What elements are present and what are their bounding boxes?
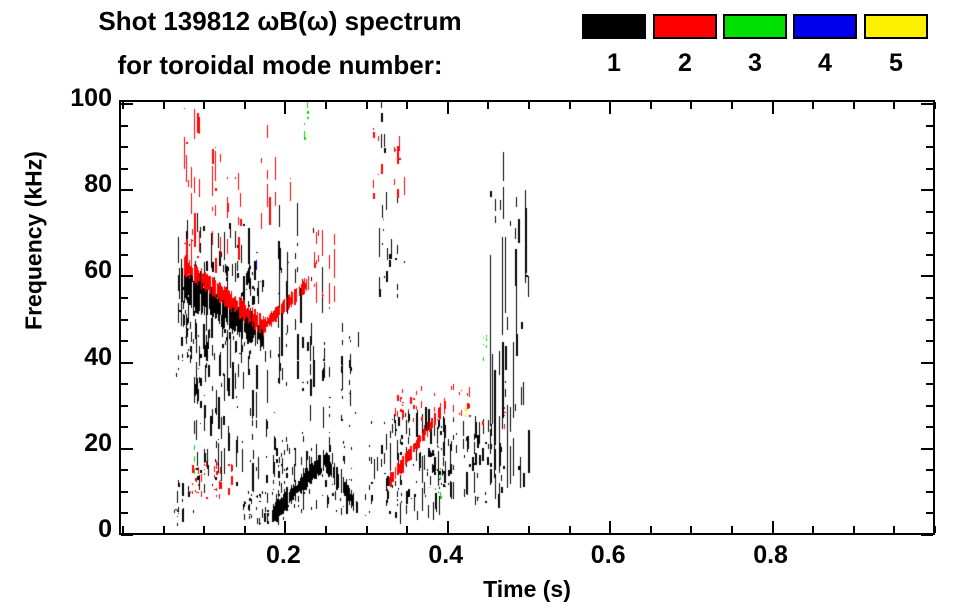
y-tick-minor-left bbox=[121, 405, 128, 407]
x-tick-minor-top bbox=[690, 102, 692, 109]
y-tick-label-80: 80 bbox=[42, 170, 112, 199]
y-tick-label-0: 0 bbox=[42, 515, 112, 544]
y-tick-label-20: 20 bbox=[42, 429, 112, 458]
x-tick-minor-bottom bbox=[569, 526, 571, 533]
y-tick-minor-right bbox=[926, 383, 933, 385]
x-tick-minor-bottom bbox=[244, 526, 246, 533]
legend-label-2: 2 bbox=[653, 49, 717, 78]
x-tick-minor-bottom bbox=[203, 526, 205, 533]
x-tick-major-top-0.6 bbox=[609, 102, 611, 114]
legend-swatch-4 bbox=[793, 14, 857, 39]
x-tick-minor-top bbox=[122, 102, 124, 109]
x-tick-minor-top bbox=[934, 102, 936, 109]
x-tick-minor-top bbox=[406, 102, 408, 109]
y-tick-major-right-0 bbox=[921, 534, 933, 536]
legend-label-3: 3 bbox=[723, 49, 787, 78]
legend-swatch-2 bbox=[653, 14, 717, 39]
x-tick-minor-bottom bbox=[893, 526, 895, 533]
x-tick-minor-bottom bbox=[650, 526, 652, 533]
x-tick-minor-bottom bbox=[853, 526, 855, 533]
legend-item-1[interactable]: 1 bbox=[582, 8, 644, 88]
y-tick-minor-left bbox=[121, 426, 128, 428]
x-tick-label-0.4: 0.4 bbox=[406, 541, 486, 570]
plot-area bbox=[119, 100, 935, 535]
x-tick-labels: 0.20.40.60.8 bbox=[119, 541, 935, 575]
y-tick-minor-right bbox=[926, 319, 933, 321]
y-tick-label-100: 100 bbox=[42, 84, 112, 113]
y-tick-minor-right bbox=[926, 254, 933, 256]
y-tick-label-40: 40 bbox=[42, 343, 112, 372]
y-tick-minor-right bbox=[926, 405, 933, 407]
x-tick-major-bottom-0.8 bbox=[772, 521, 774, 533]
y-tick-minor-right bbox=[926, 426, 933, 428]
x-tick-major-top-0.2 bbox=[284, 102, 286, 114]
title-line-1: Shot 139812 ωB(ω) spectrum bbox=[0, 6, 560, 37]
y-tick-minor-right bbox=[926, 232, 933, 234]
y-tick-label-60: 60 bbox=[42, 256, 112, 285]
y-tick-minor-right bbox=[926, 168, 933, 170]
y-tick-minor-right bbox=[926, 469, 933, 471]
y-tick-minor-left bbox=[121, 383, 128, 385]
y-tick-minor-left bbox=[121, 125, 128, 127]
y-tick-minor-right bbox=[926, 297, 933, 299]
x-tick-minor-top bbox=[325, 102, 327, 109]
y-tick-major-left-40 bbox=[121, 362, 133, 364]
y-tick-minor-left bbox=[121, 168, 128, 170]
y-tick-minor-left bbox=[121, 491, 128, 493]
x-tick-minor-top bbox=[163, 102, 165, 109]
y-tick-minor-left bbox=[121, 297, 128, 299]
spectrogram-figure: Shot 139812 ωB(ω) spectrum for toroidal … bbox=[0, 0, 963, 615]
x-tick-minor-top bbox=[650, 102, 652, 109]
y-tick-major-right-20 bbox=[921, 448, 933, 450]
y-tick-minor-left bbox=[121, 469, 128, 471]
legend-item-5[interactable]: 5 bbox=[864, 8, 926, 88]
legend-label-5: 5 bbox=[864, 49, 928, 78]
x-tick-major-bottom-0.2 bbox=[284, 521, 286, 533]
x-tick-minor-top bbox=[528, 102, 530, 109]
x-tick-minor-top bbox=[812, 102, 814, 109]
spectrogram-canvas bbox=[121, 102, 933, 533]
x-tick-minor-bottom bbox=[812, 526, 814, 533]
x-tick-label-0.6: 0.6 bbox=[568, 541, 648, 570]
x-tick-major-bottom-0.4 bbox=[447, 521, 449, 533]
x-tick-label-0.2: 0.2 bbox=[243, 541, 323, 570]
y-tick-major-right-100 bbox=[921, 103, 933, 105]
y-tick-minor-right bbox=[926, 340, 933, 342]
y-tick-minor-right bbox=[926, 146, 933, 148]
legend-label-4: 4 bbox=[793, 49, 857, 78]
x-tick-minor-bottom bbox=[122, 526, 124, 533]
x-tick-minor-top bbox=[853, 102, 855, 109]
legend-label-1: 1 bbox=[582, 49, 646, 78]
y-tick-major-right-40 bbox=[921, 362, 933, 364]
x-tick-label-0.8: 0.8 bbox=[731, 541, 811, 570]
x-tick-minor-bottom bbox=[528, 526, 530, 533]
legend-item-2[interactable]: 2 bbox=[653, 8, 715, 88]
x-tick-minor-top bbox=[893, 102, 895, 109]
x-tick-minor-bottom bbox=[690, 526, 692, 533]
legend-item-4[interactable]: 4 bbox=[793, 8, 855, 88]
legend-swatch-1 bbox=[582, 14, 646, 39]
y-axis-label: Frequency (kHz) bbox=[21, 121, 48, 361]
x-tick-major-top-0.8 bbox=[772, 102, 774, 114]
y-tick-minor-left bbox=[121, 232, 128, 234]
x-tick-minor-bottom bbox=[934, 526, 936, 533]
x-tick-minor-top bbox=[203, 102, 205, 109]
y-tick-major-right-80 bbox=[921, 189, 933, 191]
y-tick-minor-right bbox=[926, 512, 933, 514]
x-tick-major-top-0.4 bbox=[447, 102, 449, 114]
x-tick-minor-bottom bbox=[731, 526, 733, 533]
x-tick-minor-bottom bbox=[487, 526, 489, 533]
y-tick-minor-left bbox=[121, 146, 128, 148]
x-tick-minor-top bbox=[731, 102, 733, 109]
x-tick-minor-top bbox=[244, 102, 246, 109]
y-tick-minor-right bbox=[926, 125, 933, 127]
y-tick-minor-left bbox=[121, 512, 128, 514]
x-tick-minor-bottom bbox=[406, 526, 408, 533]
y-tick-minor-left bbox=[121, 211, 128, 213]
x-axis-label: Time (s) bbox=[119, 576, 935, 603]
x-tick-minor-top bbox=[366, 102, 368, 109]
title-line-2: for toroidal mode number: bbox=[0, 50, 560, 81]
legend-item-3[interactable]: 3 bbox=[723, 8, 785, 88]
x-tick-minor-top bbox=[569, 102, 571, 109]
y-tick-major-left-80 bbox=[121, 189, 133, 191]
y-tick-major-left-0 bbox=[121, 534, 133, 536]
x-tick-minor-bottom bbox=[366, 526, 368, 533]
mode-number-legend: 12345 bbox=[575, 8, 955, 96]
x-tick-major-bottom-0.6 bbox=[609, 521, 611, 533]
y-tick-minor-left bbox=[121, 319, 128, 321]
y-tick-major-left-60 bbox=[121, 275, 133, 277]
y-tick-minor-right bbox=[926, 211, 933, 213]
x-tick-minor-bottom bbox=[163, 526, 165, 533]
legend-swatch-5 bbox=[864, 14, 928, 39]
y-tick-major-right-60 bbox=[921, 275, 933, 277]
y-tick-minor-left bbox=[121, 254, 128, 256]
y-tick-minor-left bbox=[121, 340, 128, 342]
y-tick-minor-right bbox=[926, 491, 933, 493]
x-tick-minor-bottom bbox=[325, 526, 327, 533]
y-tick-major-left-20 bbox=[121, 448, 133, 450]
x-tick-minor-top bbox=[487, 102, 489, 109]
figure-title: Shot 139812 ωB(ω) spectrum for toroidal … bbox=[0, 0, 560, 96]
legend-swatch-3 bbox=[723, 14, 787, 39]
